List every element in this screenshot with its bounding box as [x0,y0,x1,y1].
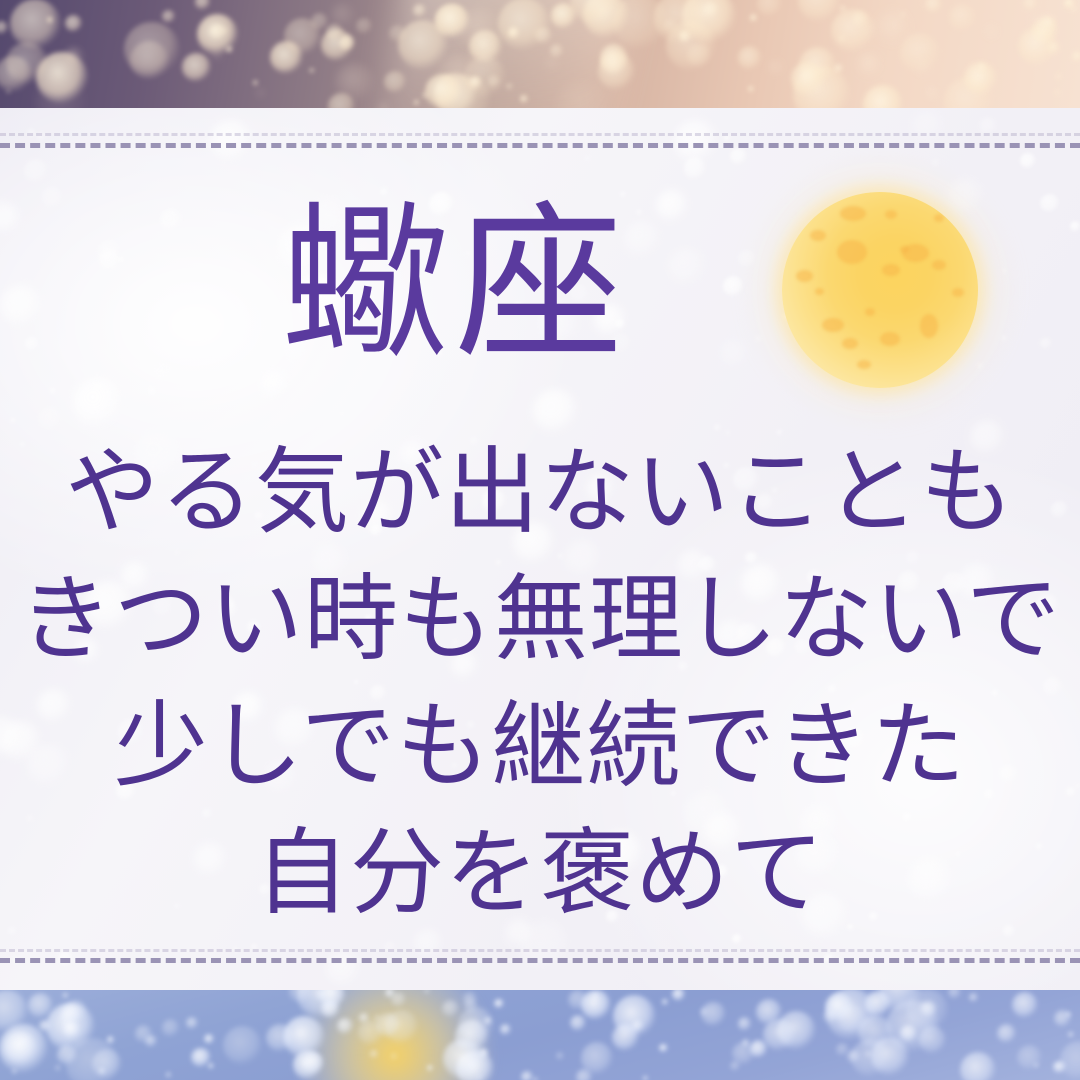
bokeh-circle [875,9,912,46]
bokeh-circle [927,87,933,93]
bokeh-circle [886,1000,939,1053]
bokeh-circle [969,993,978,1002]
bokeh-circle [906,990,949,1032]
bokeh-circle [750,1040,767,1057]
bokeh-circle [28,993,53,1018]
bokeh-circle [581,1042,614,1075]
bokeh-circle [55,1065,60,1070]
bokeh-circle [663,19,677,33]
bokeh-circle [212,50,222,60]
bokeh-circle [162,10,175,23]
bokeh-circle [1056,74,1061,79]
bokeh-circle [335,63,374,102]
bokeh-circle [1034,1063,1039,1068]
bokeh-circle [60,1005,80,1025]
bokeh-circle [10,0,60,49]
bokeh-circle [921,1001,937,1017]
bokeh-circle [4,1031,37,1064]
bokeh-circle [1040,15,1057,32]
bokeh-circle [687,44,710,67]
bokeh-circle [612,1024,639,1051]
bokeh-circle [768,60,783,75]
bokeh-circle [679,30,691,42]
bokeh-circle [948,990,962,999]
bokeh-circle [672,990,685,1001]
bokeh-circle [63,993,68,998]
bokeh-circle [1068,1032,1073,1037]
bokeh-circle [1066,1012,1071,1017]
bokeh-circle [1060,1041,1080,1080]
bokeh-circle [925,0,942,13]
bokeh-circle [732,1042,755,1065]
bokeh-circle [1032,19,1057,44]
bokeh-circle [750,14,757,21]
bokeh-circle [871,1037,909,1075]
bokeh-circle [0,990,28,1032]
bokeh-circle [1018,27,1057,66]
bokeh-circle [124,22,180,78]
bokeh-circle [6,42,48,84]
bokeh-circle [162,1019,179,1036]
bokeh-circle [798,0,841,22]
bokeh-circle [643,1076,648,1080]
bokeh-circle [311,13,328,30]
bokeh-circle [195,0,210,10]
bokeh-circle [985,26,998,39]
bokeh-circle [107,1036,114,1043]
message-line: きつい時も無理しないで [0,557,1080,684]
bokeh-circle [1030,13,1049,32]
bokeh-circle [944,77,993,108]
bokeh-circle [916,60,931,75]
bokeh-circle [920,42,932,54]
bokeh-circle [204,1034,214,1044]
bokeh-circle [484,1017,492,1025]
bokeh-circle [99,1068,105,1074]
bokeh-circle [977,63,987,73]
bokeh-circle [666,21,716,71]
bokeh-circle [701,1002,726,1027]
bokeh-circle [1012,992,1038,1018]
bokeh-circle [700,1008,708,1016]
bokeh-circle [742,1039,750,1047]
bokeh-circle [593,994,599,1000]
bokeh-circle [738,46,761,69]
divider-bottom-faint [0,949,1080,952]
bokeh-circle [798,87,804,93]
bokeh-circle [331,3,355,27]
bokeh-circle [925,87,939,101]
page-title: 蠍座 [0,196,1080,377]
message-line: やる気が出ないことも [0,430,1080,557]
bokeh-circle [791,62,825,96]
bokeh-circle [960,1052,996,1080]
bokeh-circle [777,1011,816,1050]
bokeh-circle [46,1003,95,1052]
bokeh-circle [1053,1061,1066,1074]
bokeh-circle [825,993,853,1021]
bokeh-circle [191,1048,210,1067]
bokeh-circle [738,1017,751,1030]
bokeh-circle [182,53,211,82]
bokeh-circle [613,995,656,1038]
bokeh-circle [356,18,372,34]
divider-bottom [0,958,1080,963]
bokeh-circle [568,990,588,1010]
bokeh-circle [852,11,868,27]
social-post-canvas: 蠍座 やる気が出ないことも きつい時も無理しないで 少しでも継続できた 自分を褒… [0,0,1080,1080]
message-line: 自分を褒めて [0,811,1080,938]
bokeh-circle [823,1010,837,1024]
message-line: 少しでも継続できた [0,684,1080,811]
bokeh-circle [36,52,87,103]
bokeh-circle [328,93,354,108]
bokeh-circle [65,1000,86,1021]
bokeh-circle [186,1017,198,1029]
bokeh-circle [1047,41,1060,54]
bokeh-circle [632,1020,644,1032]
bokeh-circle [66,48,81,63]
bokeh-circle [838,1005,866,1033]
bokeh-circle [0,56,32,92]
bokeh-circle [0,21,8,34]
bokeh-circle [494,999,503,1008]
bokeh-circle [8,75,15,82]
bokeh-circle [654,0,705,44]
bokeh-circle [326,24,344,42]
bokeh-circle [166,1072,172,1078]
bokeh-circle [831,9,874,52]
bokeh-circle [556,1052,564,1060]
bokeh-circle [838,35,846,43]
bokeh-circle [856,51,884,79]
bokeh-circle [576,1069,593,1080]
bokeh-circle [851,1039,889,1077]
bottom-bokeh-banner [0,990,1080,1080]
bokeh-circle [12,1069,17,1074]
bokeh-circle [896,22,903,29]
bokeh-circle [730,1061,740,1071]
bokeh-circle [309,68,314,73]
bokeh-circle [197,14,238,55]
bokeh-circle [865,991,890,1016]
bokeh-circle [1064,0,1076,9]
bokeh-circle [919,0,928,8]
bokeh-circle [521,1071,533,1080]
bokeh-circle [570,1015,586,1031]
bokeh-circle [662,999,668,1005]
bokeh-circle [826,990,877,1040]
bokeh-circle [799,47,837,85]
bokeh-circle [210,24,226,40]
light-shaft [369,0,641,108]
bokeh-circle [66,1038,119,1080]
bottom-warm-glow [300,990,490,1080]
bokeh-circle [35,77,86,108]
bokeh-circle [130,41,169,80]
bokeh-circle [659,1044,667,1052]
bokeh-circle [964,62,998,96]
bokeh-circle [135,1025,153,1043]
bokeh-circle [919,1026,947,1054]
bokeh-circle [863,85,903,108]
bokeh-circle [208,1063,214,1069]
message-body: やる気が出ないことも きつい時も無理しないで 少しでも継続できた 自分を褒めて [0,430,1080,938]
bokeh-circle [284,18,321,55]
bokeh-circle [847,1050,860,1063]
bokeh-circle [997,1024,1016,1043]
bokeh-circle [6,89,11,94]
bokeh-circle [757,0,781,16]
bokeh-circle [1023,0,1038,11]
bokeh-circle [0,1024,48,1073]
bokeh-circle [321,29,353,61]
bokeh-circle [1070,5,1079,14]
bokeh-circle [500,1024,511,1035]
bokeh-circle [879,990,922,1012]
bokeh-circle [949,4,976,31]
bokeh-circle [704,2,718,16]
bokeh-circle [858,1015,893,1050]
bokeh-circle [65,15,82,32]
bokeh-circle [856,19,879,42]
bokeh-circle [223,1026,262,1065]
bokeh-circle [256,89,264,97]
divider-top-faint [0,133,1080,136]
bokeh-circle [836,1043,849,1056]
bokeh-circle [92,1049,122,1079]
bokeh-circle [834,64,843,73]
bokeh-circle [748,86,754,92]
bokeh-circle [756,999,782,1025]
bokeh-circle [270,41,303,74]
bokeh-circle [266,1024,294,1052]
bokeh-circle [253,80,258,85]
divider-top [0,143,1080,148]
bokeh-circle [581,990,611,1020]
bokeh-circle [39,1020,51,1032]
bokeh-circle [840,6,845,11]
bokeh-circle [793,66,850,108]
bokeh-circle [47,17,53,23]
bokeh-circle [20,1038,28,1046]
bokeh-circle [57,1045,76,1064]
bokeh-circle [1054,1010,1071,1027]
top-bokeh-banner [0,0,1080,108]
bokeh-circle [226,46,233,53]
bokeh-circle [900,1025,917,1042]
bokeh-circle [289,990,311,1003]
bokeh-circle [221,27,228,34]
bokeh-circle [1072,51,1080,62]
bokeh-circle [900,33,940,73]
bokeh-circle [339,35,355,51]
bokeh-circle [63,48,87,72]
bokeh-circle [1055,90,1061,96]
bokeh-circle [866,1051,871,1056]
bokeh-circle [682,0,736,43]
bokeh-circle [900,12,906,18]
bokeh-circle [763,1019,795,1051]
bokeh-circle [63,1021,80,1038]
bokeh-circle [145,1035,157,1047]
bokeh-circle [1017,1045,1042,1070]
